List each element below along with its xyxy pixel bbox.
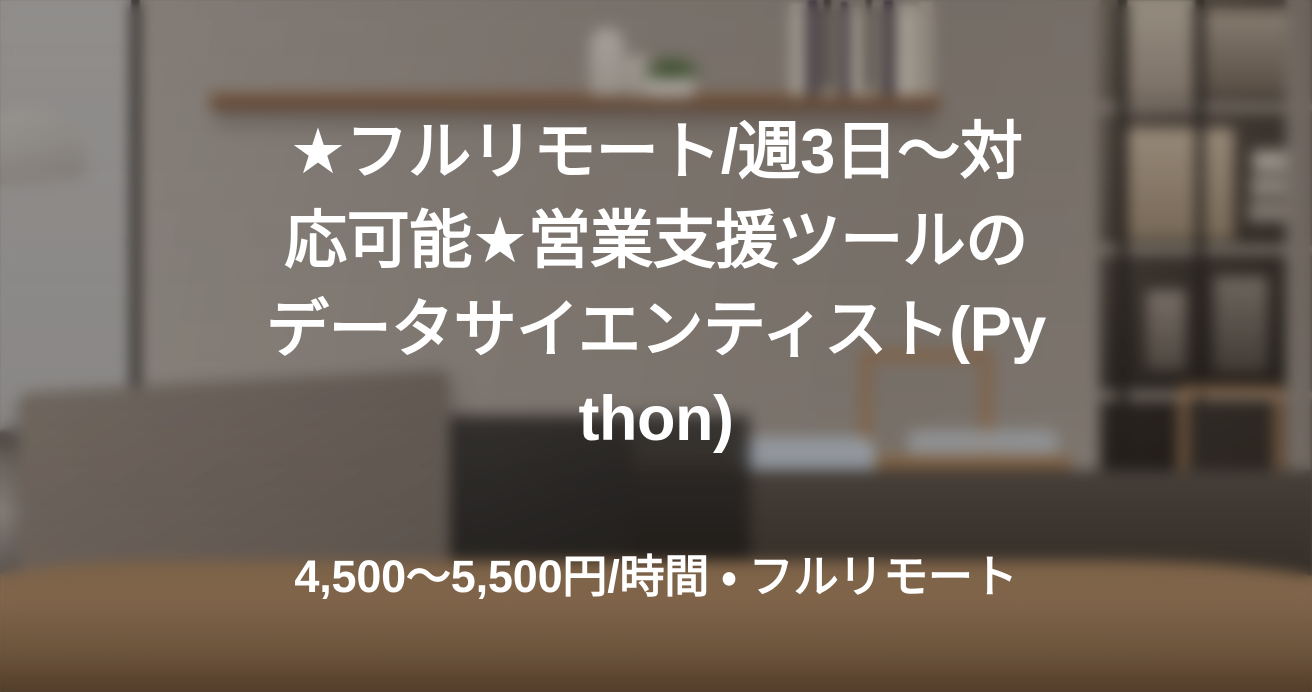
shelf-divider bbox=[866, 0, 872, 90]
wall-right-edge bbox=[1286, 0, 1312, 550]
table-edge bbox=[0, 668, 1312, 692]
shelf-divider bbox=[824, 0, 831, 90]
rack-shelf bbox=[1100, 246, 1312, 254]
white-vase-icon bbox=[590, 28, 624, 96]
rack-item bbox=[1146, 290, 1186, 370]
rack-item bbox=[1122, 0, 1194, 100]
potted-plant-icon bbox=[642, 56, 702, 78]
subtitle-rate-and-worktype: 4,500〜5,500円/時間 ・ フルリモート bbox=[0, 548, 1312, 606]
page-title: ★フルリモート/週3日〜対応可能★営業支援ツールのデータサイエンティスト(Pyt… bbox=[261, 108, 1051, 464]
rack-shelf bbox=[1100, 104, 1312, 112]
rack-item bbox=[1214, 276, 1268, 372]
job-posting-card: ★フルリモート/週3日〜対応可能★営業支援ツールのデータサイエンティスト(Pyt… bbox=[0, 0, 1312, 692]
rack-post bbox=[1118, 0, 1127, 550]
rack-item bbox=[1200, 10, 1296, 96]
rack-item bbox=[1124, 128, 1234, 240]
